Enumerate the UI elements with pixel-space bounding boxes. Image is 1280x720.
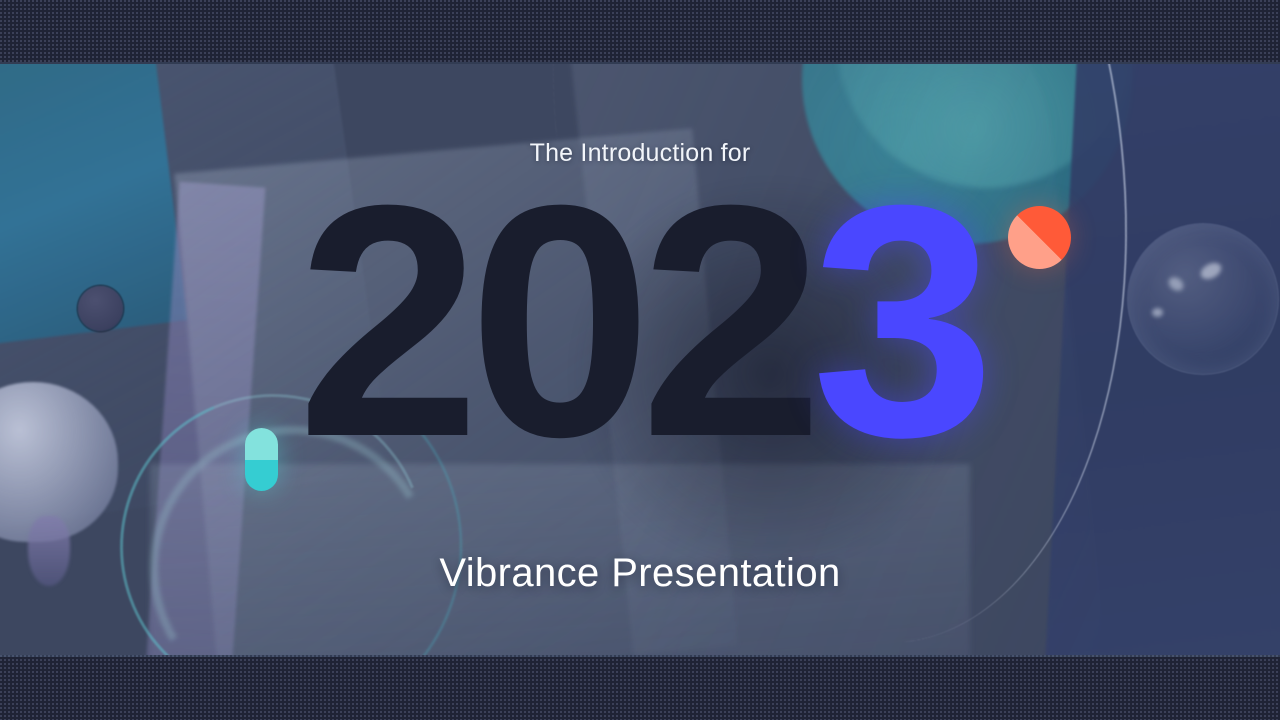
slide-content: The Introduction for 2023 Vibrance Prese… [0, 64, 1280, 655]
teal-capsule-top-half [245, 428, 278, 460]
slide-year-dark-digits: 202 [297, 136, 812, 505]
orange-circle-accent [1008, 206, 1071, 269]
slide-year-headline: 2023 [0, 156, 1280, 486]
slide-subtitle-text: Vibrance Presentation [0, 551, 1280, 596]
top-letterbox-edge [0, 62, 1280, 64]
presentation-slide-viewport: The Introduction for 2023 Vibrance Prese… [0, 0, 1280, 720]
slide-canvas: The Introduction for 2023 Vibrance Prese… [0, 64, 1280, 655]
teal-capsule-bottom-half [245, 460, 278, 492]
bottom-letterbox-bar [0, 655, 1280, 720]
top-letterbox-bar [0, 0, 1280, 64]
slide-year-accent-digit: 3 [812, 136, 984, 505]
teal-capsule-accent [245, 428, 278, 491]
bottom-letterbox-edge [0, 655, 1280, 657]
